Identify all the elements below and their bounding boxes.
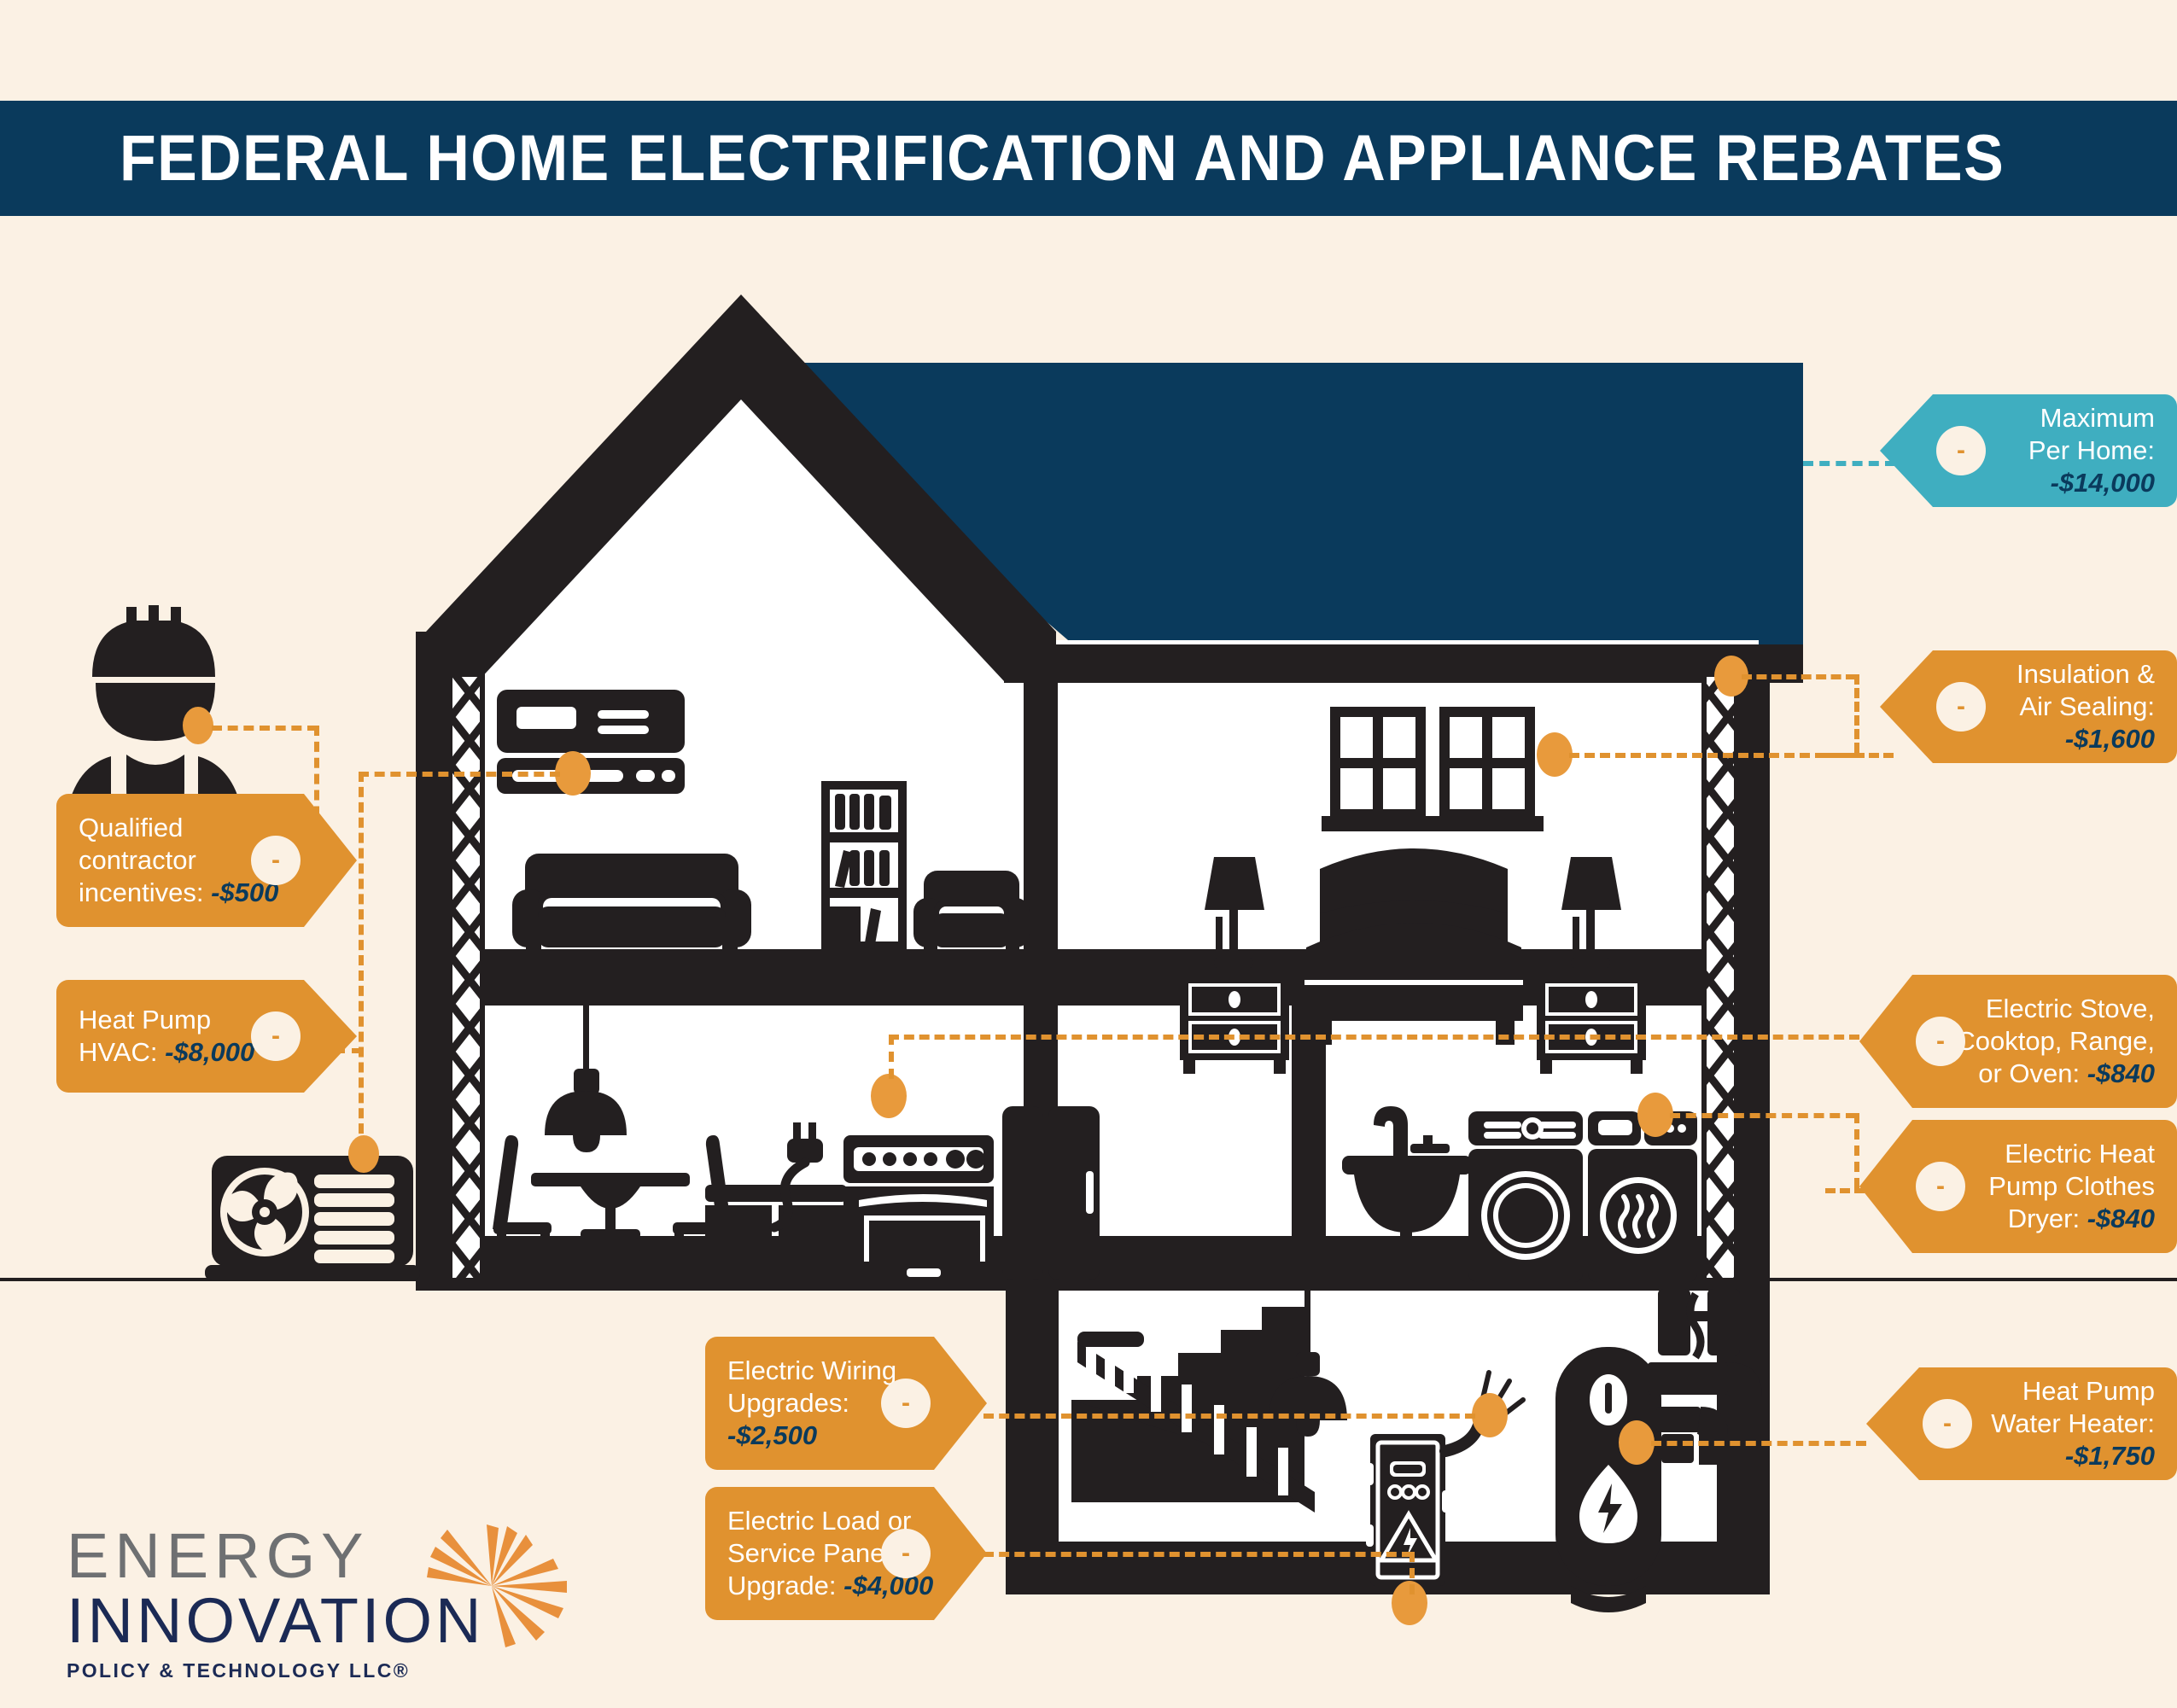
armchair-icon <box>913 871 1030 958</box>
dot-wiring <box>1472 1393 1508 1437</box>
tag-label-line3: Upgrade: -$4,000 <box>727 1570 912 1602</box>
tag-label-line2: Water Heater: <box>1941 1408 2155 1440</box>
tag-label-line1: Qualified <box>79 812 282 844</box>
tag-label-suffix: incentives: <box>79 877 211 907</box>
leader-stove-b <box>889 1035 1859 1040</box>
tag-amount: -$1,600 <box>1955 723 2155 755</box>
tag-amount: -$14,000 <box>1955 467 2155 499</box>
tag-hole: - <box>251 1011 301 1061</box>
tag-label-line1: Heat Pump <box>1941 1375 2155 1408</box>
tag-body: - Electric Wiring Upgrades: -$2,500 <box>705 1337 934 1470</box>
nightstand-left-icon <box>1180 975 1289 1074</box>
tag-point <box>304 980 357 1093</box>
tag-label-line2: Pump Clothes <box>1935 1170 2155 1203</box>
tag-label-line3: incentives: -$500 <box>79 877 282 909</box>
tag-contractor-incentives[interactable]: - Qualified contractor incentives: -$500 <box>56 794 357 927</box>
leader-insulation-a <box>1742 674 1856 679</box>
tag-label-line1: Maximum <box>1955 402 2155 434</box>
tag-hole: - <box>1916 1162 1965 1211</box>
leader-wiring <box>983 1414 1475 1419</box>
bed-icon <box>1304 848 1523 1045</box>
dot-water-heater <box>1619 1420 1655 1465</box>
tag-electric-stove[interactable]: - Electric Stove, Cooktop, Range, or Ove… <box>1859 975 2177 1108</box>
electric-stove-icon <box>843 1135 994 1284</box>
sunburst-icon <box>425 1519 570 1647</box>
tag-service-panel-upgrade[interactable]: - Electric Load or Service Panel Upgrade… <box>705 1487 987 1620</box>
tag-body: - Maximum Per Home: -$14,000 <box>1933 394 2177 507</box>
tag-point <box>1866 1367 1919 1480</box>
tag-label-suffix: Dryer: <box>2008 1204 2087 1233</box>
tag-label-suffix: or Oven: <box>1978 1058 2087 1088</box>
leader-water-heater <box>1651 1441 1866 1446</box>
tag-hole: - <box>881 1529 931 1578</box>
tag-point <box>1880 650 1933 763</box>
tag-maximum-per-home[interactable]: - Maximum Per Home: -$14,000 <box>1880 394 2177 507</box>
tag-insulation-air-sealing[interactable]: - Insulation & Air Sealing: -$1,600 <box>1880 650 2177 763</box>
tag-amount: -$4,000 <box>843 1571 933 1600</box>
tag-body: - Insulation & Air Sealing: -$1,600 <box>1933 650 2177 763</box>
tag-hole: - <box>1936 682 1986 732</box>
refrigerator-icon <box>1002 1106 1100 1280</box>
tag-label-suffix: HVAC: <box>79 1037 165 1067</box>
tag-body: - Heat Pump HVAC: -$8,000 <box>56 980 304 1093</box>
tag-label-line3: or Oven: -$840 <box>1935 1058 2155 1090</box>
tag-body: - Electric Load or Service Panel Upgrade… <box>705 1487 934 1620</box>
tag-label-suffix: Upgrade: <box>727 1571 843 1600</box>
tag-label-line1: Electric Wiring <box>727 1355 912 1387</box>
leader-stove-a <box>889 1035 894 1079</box>
tag-electric-wiring-upgrades[interactable]: - Electric Wiring Upgrades: -$2,500 <box>705 1337 987 1470</box>
tag-clothes-dryer[interactable]: - Electric Heat Pump Clothes Dryer: -$84… <box>1859 1120 2177 1253</box>
dot-contractor <box>183 707 213 744</box>
hvac-condenser-unit-icon <box>205 1156 420 1280</box>
tag-body: - Qualified contractor incentives: -$500 <box>56 794 304 927</box>
tag-hole: - <box>881 1379 931 1428</box>
tag-point <box>934 1487 987 1620</box>
tag-hole: - <box>1936 426 1986 475</box>
leader-panel-b <box>983 1552 1412 1557</box>
leader-contractor-a <box>212 726 318 731</box>
leader-hvac-a <box>359 772 560 777</box>
tag-hole: - <box>1916 1017 1965 1066</box>
energy-innovation-logo: ENERGY INNOVATION POLICY & TECHNOLOGY LL… <box>67 1524 511 1687</box>
tag-amount: -$2,500 <box>727 1419 912 1452</box>
bookshelf-icon <box>821 781 907 950</box>
leader-insulation-d <box>1569 753 1856 758</box>
tag-point <box>1859 975 1912 1108</box>
tag-label-line2: Cooktop, Range, <box>1935 1025 2155 1058</box>
tag-heat-pump-water-heater[interactable]: - Heat Pump Water Heater: -$1,750 <box>1866 1367 2177 1480</box>
tag-amount: -$840 <box>2087 1058 2155 1088</box>
tag-amount: -$1,750 <box>1941 1440 2155 1472</box>
electrical-panel-icon <box>1366 1434 1450 1586</box>
tag-amount: -$8,000 <box>165 1037 254 1067</box>
tag-label-line1: Electric Stove, <box>1935 993 2155 1025</box>
tag-hole: - <box>1923 1399 1972 1449</box>
tag-body: - Heat Pump Water Heater: -$1,750 <box>1919 1367 2177 1480</box>
dot-dryer <box>1637 1093 1673 1137</box>
leader-dryer-a <box>1670 1113 1856 1118</box>
leader-panel-a <box>1410 1552 1415 1594</box>
sofa-icon <box>512 854 751 959</box>
dot-wall-heat-pump <box>555 751 591 796</box>
tag-point <box>304 794 357 927</box>
tag-point <box>1880 394 1933 507</box>
nightstand-right-icon <box>1537 975 1646 1074</box>
tag-heat-pump-hvac[interactable]: - Heat Pump HVAC: -$8,000 <box>56 980 357 1093</box>
tag-point <box>1859 1120 1912 1253</box>
tag-label-line1: Electric Load or <box>727 1505 912 1537</box>
tag-point <box>934 1337 987 1470</box>
wall-mounted-heat-pump-icon <box>497 690 685 794</box>
washing-machine-icon <box>1468 1111 1583 1282</box>
dot-stove <box>871 1074 907 1118</box>
tag-body: - Electric Heat Pump Clothes Dryer: -$84… <box>1912 1120 2177 1253</box>
tag-body: - Electric Stove, Cooktop, Range, or Ove… <box>1912 975 2177 1108</box>
tag-amount: -$840 <box>2087 1204 2155 1233</box>
dot-insulation-window <box>1537 732 1573 777</box>
logo-tagline: POLICY & TECHNOLOGY LLC® <box>67 1659 511 1682</box>
tag-label-line3: Dryer: -$840 <box>1935 1203 2155 1235</box>
leader-hvac-b <box>359 772 364 1164</box>
tag-label-line1: Electric Heat <box>1935 1138 2155 1170</box>
tag-hole: - <box>251 836 301 885</box>
leader-insulation-b <box>1854 674 1859 753</box>
tag-label-line1: Insulation & <box>1955 658 2155 691</box>
dot-hvac-condenser <box>348 1135 379 1173</box>
